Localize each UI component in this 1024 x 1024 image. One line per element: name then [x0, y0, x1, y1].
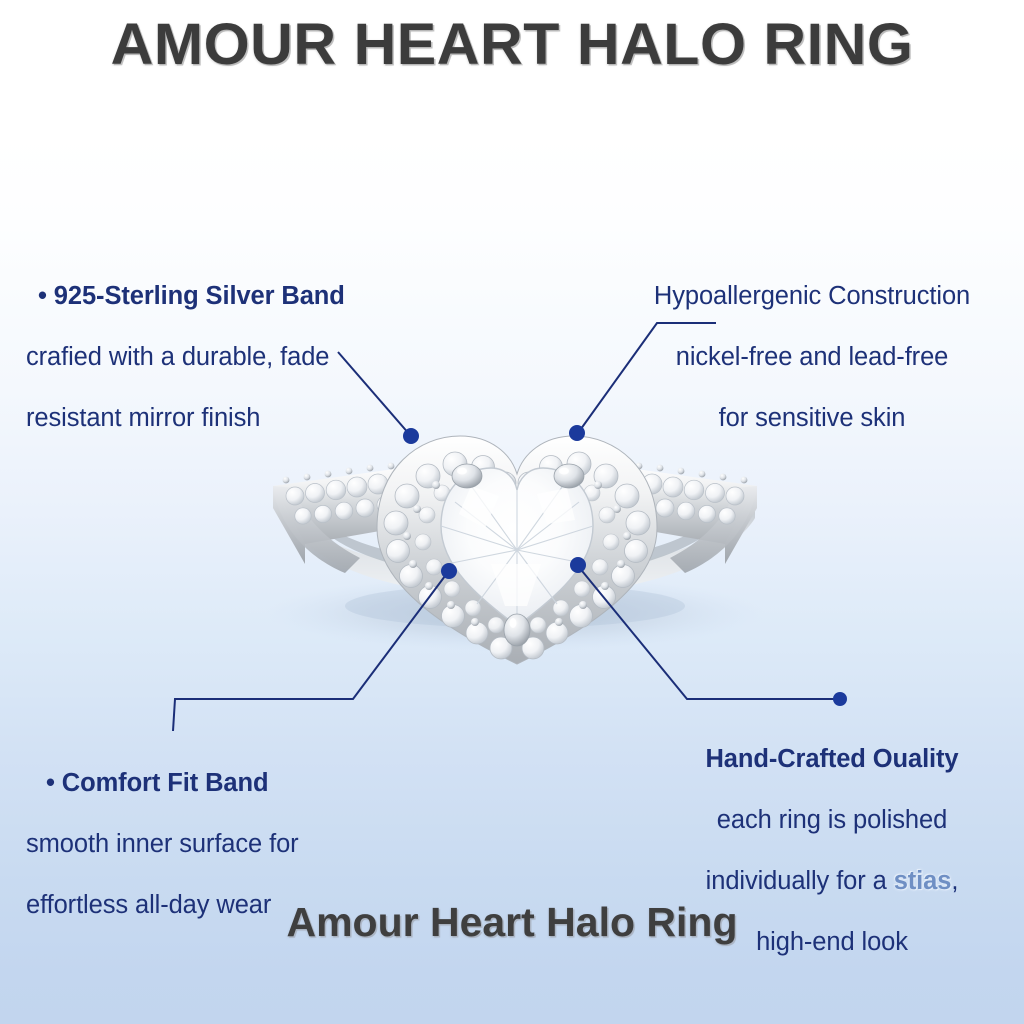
- prong-top-right: [554, 464, 584, 488]
- callout-bottom-right-line3: individually for a stias,: [646, 866, 1018, 897]
- callout-top-left-line3: resistant mirror finish: [26, 403, 446, 434]
- callout-bottom-right-heading: Hand-Crafted Ouality: [646, 744, 1018, 775]
- callout-bottom-left-line2: smooth inner surface for: [26, 829, 426, 860]
- product-caption: Amour Heart Halo Ring: [0, 898, 1024, 946]
- callout-top-left-line2: crafied with a durable, fade: [26, 342, 446, 373]
- leader-endpoint-bottom-right: [833, 692, 847, 706]
- page-title: AMOUR HEART HALO RING: [0, 14, 1024, 76]
- infographic-canvas: AMOUR HEART HALO RING: [0, 0, 1024, 1024]
- callout-bottom-left-heading: • Comfort Fit Band: [46, 768, 426, 799]
- callout-bottom-right: Hand-Crafted Ouality each ring is polish…: [646, 713, 1018, 988]
- callout-bottom-right-line2: each ring is polished: [646, 805, 1018, 836]
- callout-bottom-right-line3-post: ,: [951, 867, 958, 895]
- callout-top-right: Hypoallergenic Construction nickel-free …: [612, 250, 1012, 464]
- callout-top-right-line3: for sensitive skin: [612, 403, 1012, 434]
- callout-top-left: • 925-Sterling Silver Band crafied with …: [26, 250, 446, 464]
- callout-bottom-right-line3-pre: individually for a: [706, 867, 894, 895]
- watermark-stias: stias: [894, 867, 952, 895]
- callout-top-right-heading: Hypoallergenic Construction: [612, 281, 1012, 312]
- prong-bottom: [504, 614, 530, 646]
- prong-top-left: [452, 464, 482, 488]
- callout-top-left-heading: • 925-Sterling Silver Band: [38, 281, 446, 312]
- callout-top-right-line2: nickel-free and lead-free: [612, 342, 1012, 373]
